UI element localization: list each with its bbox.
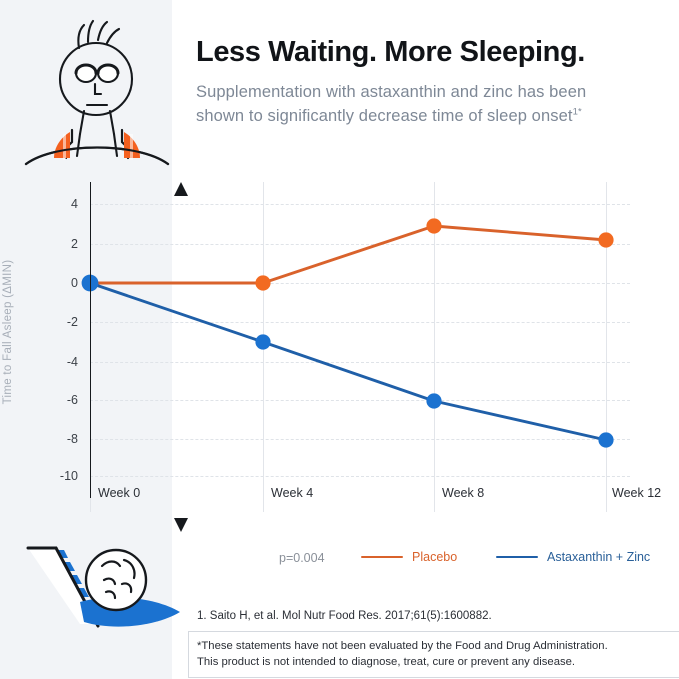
legend-label-placebo: Placebo xyxy=(412,550,457,564)
x-tick-week4: Week 4 xyxy=(271,486,313,500)
y-tick--8: -8 xyxy=(42,432,78,446)
y-axis-ticks: 4 2 0 -2 -4 -6 -8 -10 xyxy=(0,168,78,498)
y-tick-2: 2 xyxy=(42,237,78,251)
series-line-placebo xyxy=(90,226,606,283)
x-tick-week12: Week 12 xyxy=(612,486,661,500)
plot-area xyxy=(90,182,630,498)
tired-person-icon xyxy=(22,16,172,168)
chart-area: Time to Fall Asleep (ΔMIN) xyxy=(0,168,679,528)
data-point-astaxanthin-week8 xyxy=(426,393,441,408)
y-axis-arrow-up-icon xyxy=(174,182,188,196)
data-point-placebo-week12 xyxy=(598,232,613,247)
data-point-astaxanthin-week4 xyxy=(255,334,270,349)
citation-text: 1. Saito H, et al. Mol Nutr Food Res. 20… xyxy=(197,610,492,622)
headline-block: Less Waiting. More Sleeping. Supplementa… xyxy=(196,36,666,129)
data-point-placebo-week4 xyxy=(255,275,270,290)
y-tick--6: -6 xyxy=(42,393,78,407)
y-tick--2: -2 xyxy=(42,315,78,329)
disclaimer-line-2: This product is not intended to diagnose… xyxy=(197,654,675,670)
y-tick-0: 0 xyxy=(42,276,78,290)
x-tick-week8: Week 8 xyxy=(442,486,484,500)
x-tick-week0: Week 0 xyxy=(98,486,140,500)
y-axis-arrow-down-icon xyxy=(174,518,188,532)
sleeping-person-icon xyxy=(18,536,188,640)
infographic-root: Less Waiting. More Sleeping. Supplementa… xyxy=(0,0,679,679)
legend-swatch-placebo xyxy=(361,556,403,559)
legend-label-astaxanthin-zinc: Astaxanthin + Zinc xyxy=(547,550,650,564)
subtitle-superscript: 1* xyxy=(573,107,582,118)
y-tick--10: -10 xyxy=(42,469,78,483)
disclaimer-line-1: *These statements have not been evaluate… xyxy=(197,638,675,654)
data-point-placebo-week8 xyxy=(426,218,441,233)
y-axis-line xyxy=(90,182,91,498)
data-point-astaxanthin-week12 xyxy=(598,432,613,447)
series-svg xyxy=(90,182,630,512)
fda-disclaimer: *These statements have not been evaluate… xyxy=(188,631,679,678)
y-tick--4: -4 xyxy=(42,355,78,369)
page-title: Less Waiting. More Sleeping. xyxy=(196,36,666,69)
legend-item-astaxanthin-zinc: Astaxanthin + Zinc xyxy=(496,550,650,564)
legend-swatch-astaxanthin-zinc xyxy=(496,556,538,559)
subtitle-text: Supplementation with astaxanthin and zin… xyxy=(196,83,586,125)
y-tick-4: 4 xyxy=(42,197,78,211)
legend-item-placebo: Placebo xyxy=(361,550,457,564)
subtitle: Supplementation with astaxanthin and zin… xyxy=(196,81,588,129)
p-value-annotation: p=0.004 xyxy=(279,551,325,565)
series-line-astaxanthin-zinc xyxy=(90,283,606,440)
